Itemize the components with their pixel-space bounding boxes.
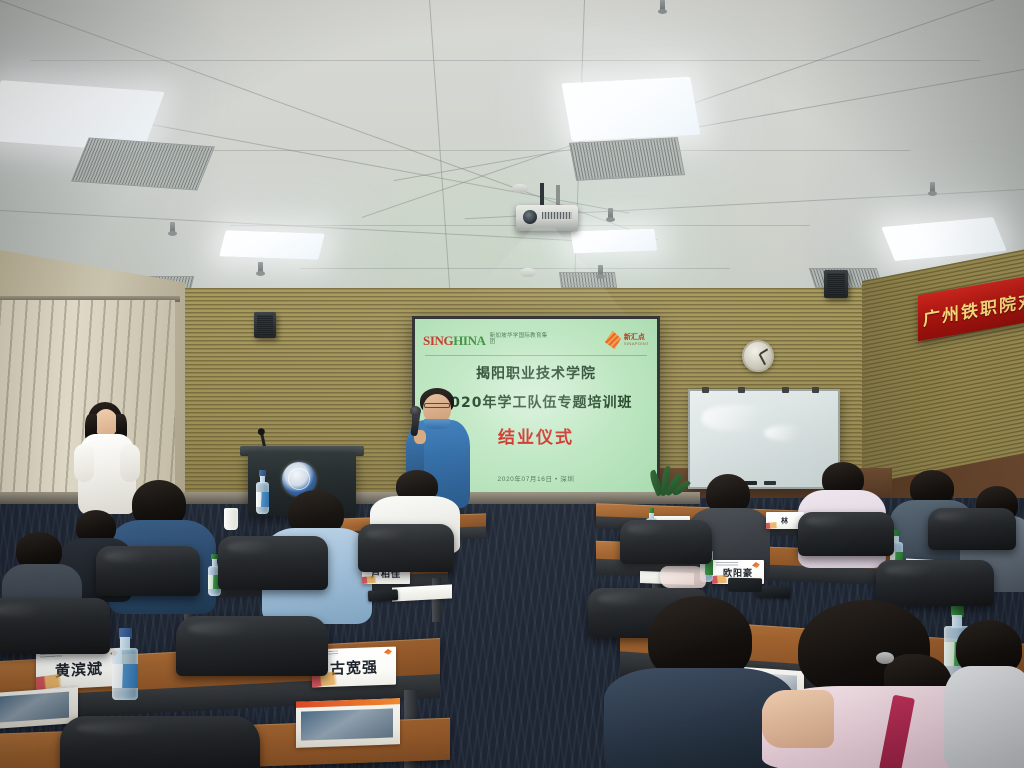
whiteboard-glare bbox=[764, 425, 810, 441]
fire-sprinkler bbox=[930, 182, 935, 194]
bottle-label bbox=[256, 492, 269, 507]
slide-header: SINGHINA 新加坡华学国际教育集团 新汇点 SINAPOINT bbox=[423, 327, 649, 353]
chair[interactable] bbox=[798, 512, 894, 556]
name-card-name: 林 bbox=[781, 516, 789, 526]
hair-tie bbox=[876, 652, 894, 664]
host-sleeve bbox=[120, 444, 140, 482]
chair[interactable] bbox=[176, 616, 328, 676]
chair[interactable] bbox=[0, 598, 110, 654]
smartphone[interactable] bbox=[368, 589, 399, 602]
cup-body bbox=[224, 508, 238, 530]
fire-sprinkler bbox=[608, 208, 613, 220]
audience-arm bbox=[762, 690, 834, 748]
hvac-vent bbox=[559, 272, 617, 288]
chair[interactable] bbox=[358, 524, 454, 572]
singhina-logo: SINGHINA 新加坡华学国际教育集团 bbox=[423, 334, 550, 347]
sinapoint-text: 新汇点 SINAPOINT bbox=[624, 334, 649, 346]
smoke-detector bbox=[512, 184, 528, 193]
wall-clock bbox=[742, 340, 774, 372]
name-card-logo-icon bbox=[384, 649, 392, 655]
ceiling-light-panel bbox=[219, 230, 325, 259]
host-head bbox=[94, 409, 118, 437]
name-card: 黄滨斌 bbox=[36, 648, 122, 691]
chair[interactable] bbox=[620, 520, 712, 564]
singhina-subtitle: 新加坡华学国际教育集团 bbox=[490, 334, 550, 346]
smoke-detector bbox=[520, 268, 536, 277]
notebook bbox=[728, 578, 762, 593]
chair[interactable] bbox=[60, 716, 260, 768]
ceiling-projector bbox=[516, 205, 578, 231]
fire-sprinkler bbox=[258, 262, 263, 274]
presenter-glasses bbox=[424, 403, 450, 408]
name-card-name: 黄滨斌 bbox=[55, 657, 103, 681]
brochure-photo bbox=[301, 709, 393, 741]
bottle-label bbox=[112, 664, 138, 688]
conference-room-photo: 广州铁职院对口帮 SINGHINA 新加坡华学国际教育集团 新汇点 SINAPO… bbox=[0, 0, 1024, 768]
chair[interactable] bbox=[96, 546, 200, 596]
water-bottle bbox=[112, 628, 138, 700]
fire-sprinkler bbox=[170, 222, 175, 234]
fire-sprinkler bbox=[598, 265, 603, 277]
whiteboard-clip bbox=[812, 387, 819, 393]
sinapoint-logo: 新汇点 SINAPOINT bbox=[605, 331, 649, 349]
microphone-head bbox=[410, 406, 421, 416]
name-card-header-text bbox=[716, 562, 738, 567]
flame-diamond-icon bbox=[605, 331, 621, 349]
ceiling-grid-line bbox=[30, 60, 980, 61]
water-bottle bbox=[256, 470, 269, 514]
audience-member-foreground bbox=[944, 620, 1024, 768]
ceiling-light-panel bbox=[571, 229, 658, 254]
whiteboard-clip bbox=[738, 387, 745, 393]
brochure-photo bbox=[0, 692, 69, 723]
fire-sprinkler bbox=[660, 0, 665, 12]
host-sleeve bbox=[74, 444, 94, 482]
clock-minute-hand bbox=[759, 354, 766, 365]
presenter-collar bbox=[424, 419, 450, 429]
hvac-vent bbox=[569, 137, 685, 181]
ceiling-grid-line bbox=[120, 150, 910, 151]
slide-institution-name: 揭阳职业技术学院 bbox=[415, 363, 657, 383]
singhina-red-part: SING bbox=[423, 333, 453, 348]
ceiling-grid-line bbox=[300, 268, 730, 269]
singhina-green-part: HINA bbox=[453, 333, 485, 348]
snack-bag bbox=[660, 566, 706, 588]
slide-divider bbox=[425, 355, 647, 356]
chair[interactable] bbox=[218, 536, 328, 590]
name-card-logo-icon bbox=[752, 562, 760, 568]
ceiling-light-panel bbox=[561, 77, 700, 142]
name-card-name: 欧阳豪 bbox=[723, 566, 753, 579]
brochure bbox=[0, 687, 78, 729]
paper-cup bbox=[224, 508, 238, 530]
wall-speaker bbox=[824, 270, 848, 298]
whiteboard-clip bbox=[702, 387, 709, 393]
whiteboard-clip bbox=[782, 387, 789, 393]
hvac-vent bbox=[71, 137, 215, 190]
name-card-name: 古宽强 bbox=[330, 656, 378, 679]
audience-torso bbox=[944, 666, 1024, 768]
wall-speaker bbox=[254, 312, 276, 338]
brochure bbox=[296, 698, 400, 748]
ceiling bbox=[0, 0, 1024, 300]
potted-plant bbox=[648, 470, 688, 508]
chair[interactable] bbox=[928, 508, 1016, 550]
singhina-wordmark: SINGHINA bbox=[423, 334, 486, 347]
sinapoint-name-en: SINAPOINT bbox=[624, 342, 649, 346]
